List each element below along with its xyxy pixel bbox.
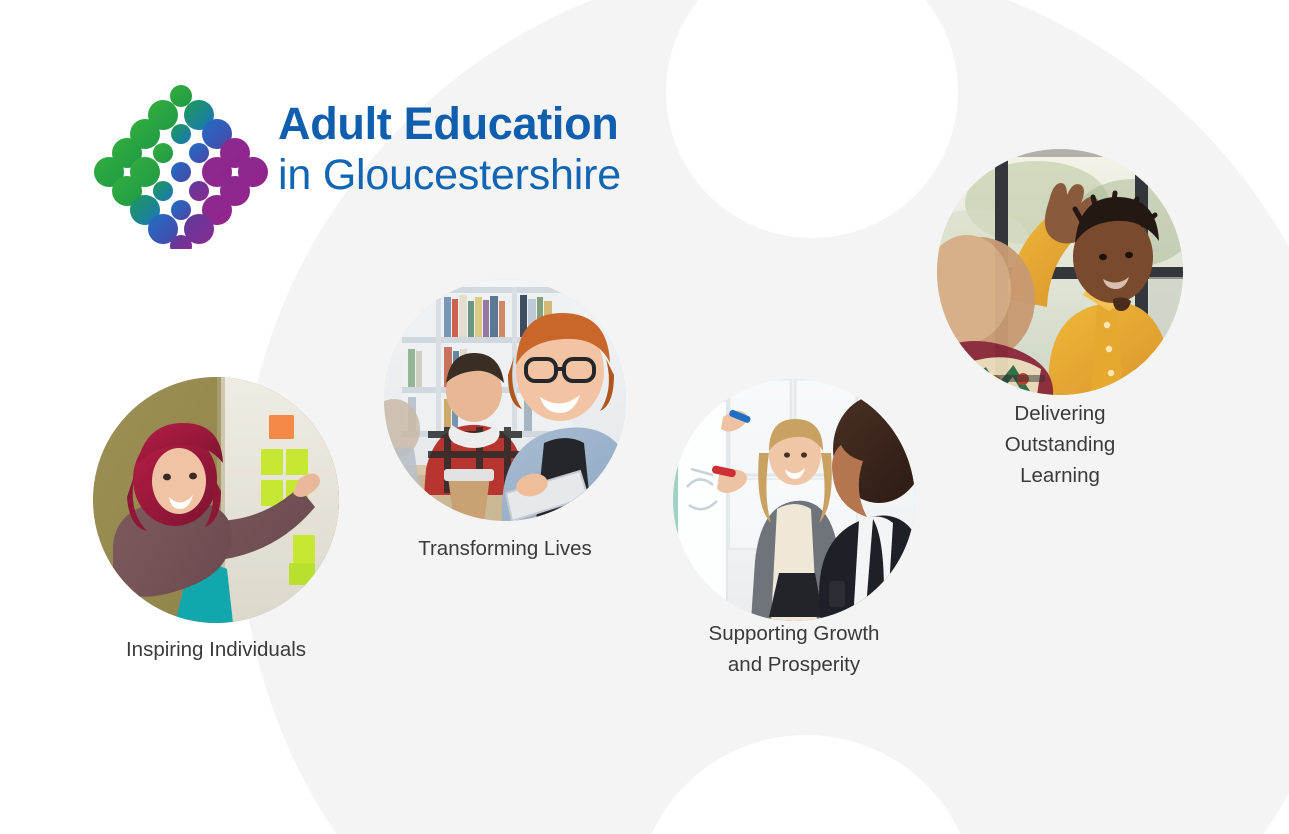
pillar-inspiring-individuals[interactable]: Inspiring Individuals <box>93 377 339 623</box>
label-line: Inspiring Individuals <box>126 634 306 665</box>
pillar-label-transforming-lives: Transforming Lives <box>418 533 592 564</box>
logo-line-1: Adult Education <box>278 98 621 150</box>
pillar-supporting-growth-and-prosperity[interactable]: Supporting Growth and Prosperity <box>673 379 915 621</box>
label-line: Transforming Lives <box>418 533 592 564</box>
photo-inspiring-individuals <box>93 377 339 623</box>
pillar-label-supporting-growth-and-prosperity: Supporting Growth and Prosperity <box>709 618 880 680</box>
label-line: and Prosperity <box>709 649 880 680</box>
photo-transforming-lives <box>384 279 626 521</box>
photo-delivering-outstanding-learning <box>937 149 1183 395</box>
logo-line-2: in Gloucestershire <box>278 150 621 200</box>
pillar-delivering-outstanding-learning[interactable]: Delivering Outstanding Learning <box>937 149 1183 395</box>
pillar-label-inspiring-individuals: Inspiring Individuals <box>126 634 306 665</box>
label-line: Outstanding <box>1005 429 1116 460</box>
label-line: Supporting Growth <box>709 618 880 649</box>
label-line: Learning <box>1005 460 1116 491</box>
poster-canvas: Adult Education in Gloucestershire <box>0 0 1289 834</box>
logo[interactable]: Adult Education in Gloucestershire <box>92 84 692 249</box>
label-line: Delivering <box>1005 398 1116 429</box>
pillar-transforming-lives[interactable]: Transforming Lives <box>384 279 626 521</box>
pillar-label-delivering-outstanding-learning: Delivering Outstanding Learning <box>1005 398 1116 491</box>
logo-wordmark: Adult Education in Gloucestershire <box>278 98 621 200</box>
photo-supporting-growth-and-prosperity <box>673 379 915 621</box>
logo-diamond-dots-icon <box>92 84 270 249</box>
